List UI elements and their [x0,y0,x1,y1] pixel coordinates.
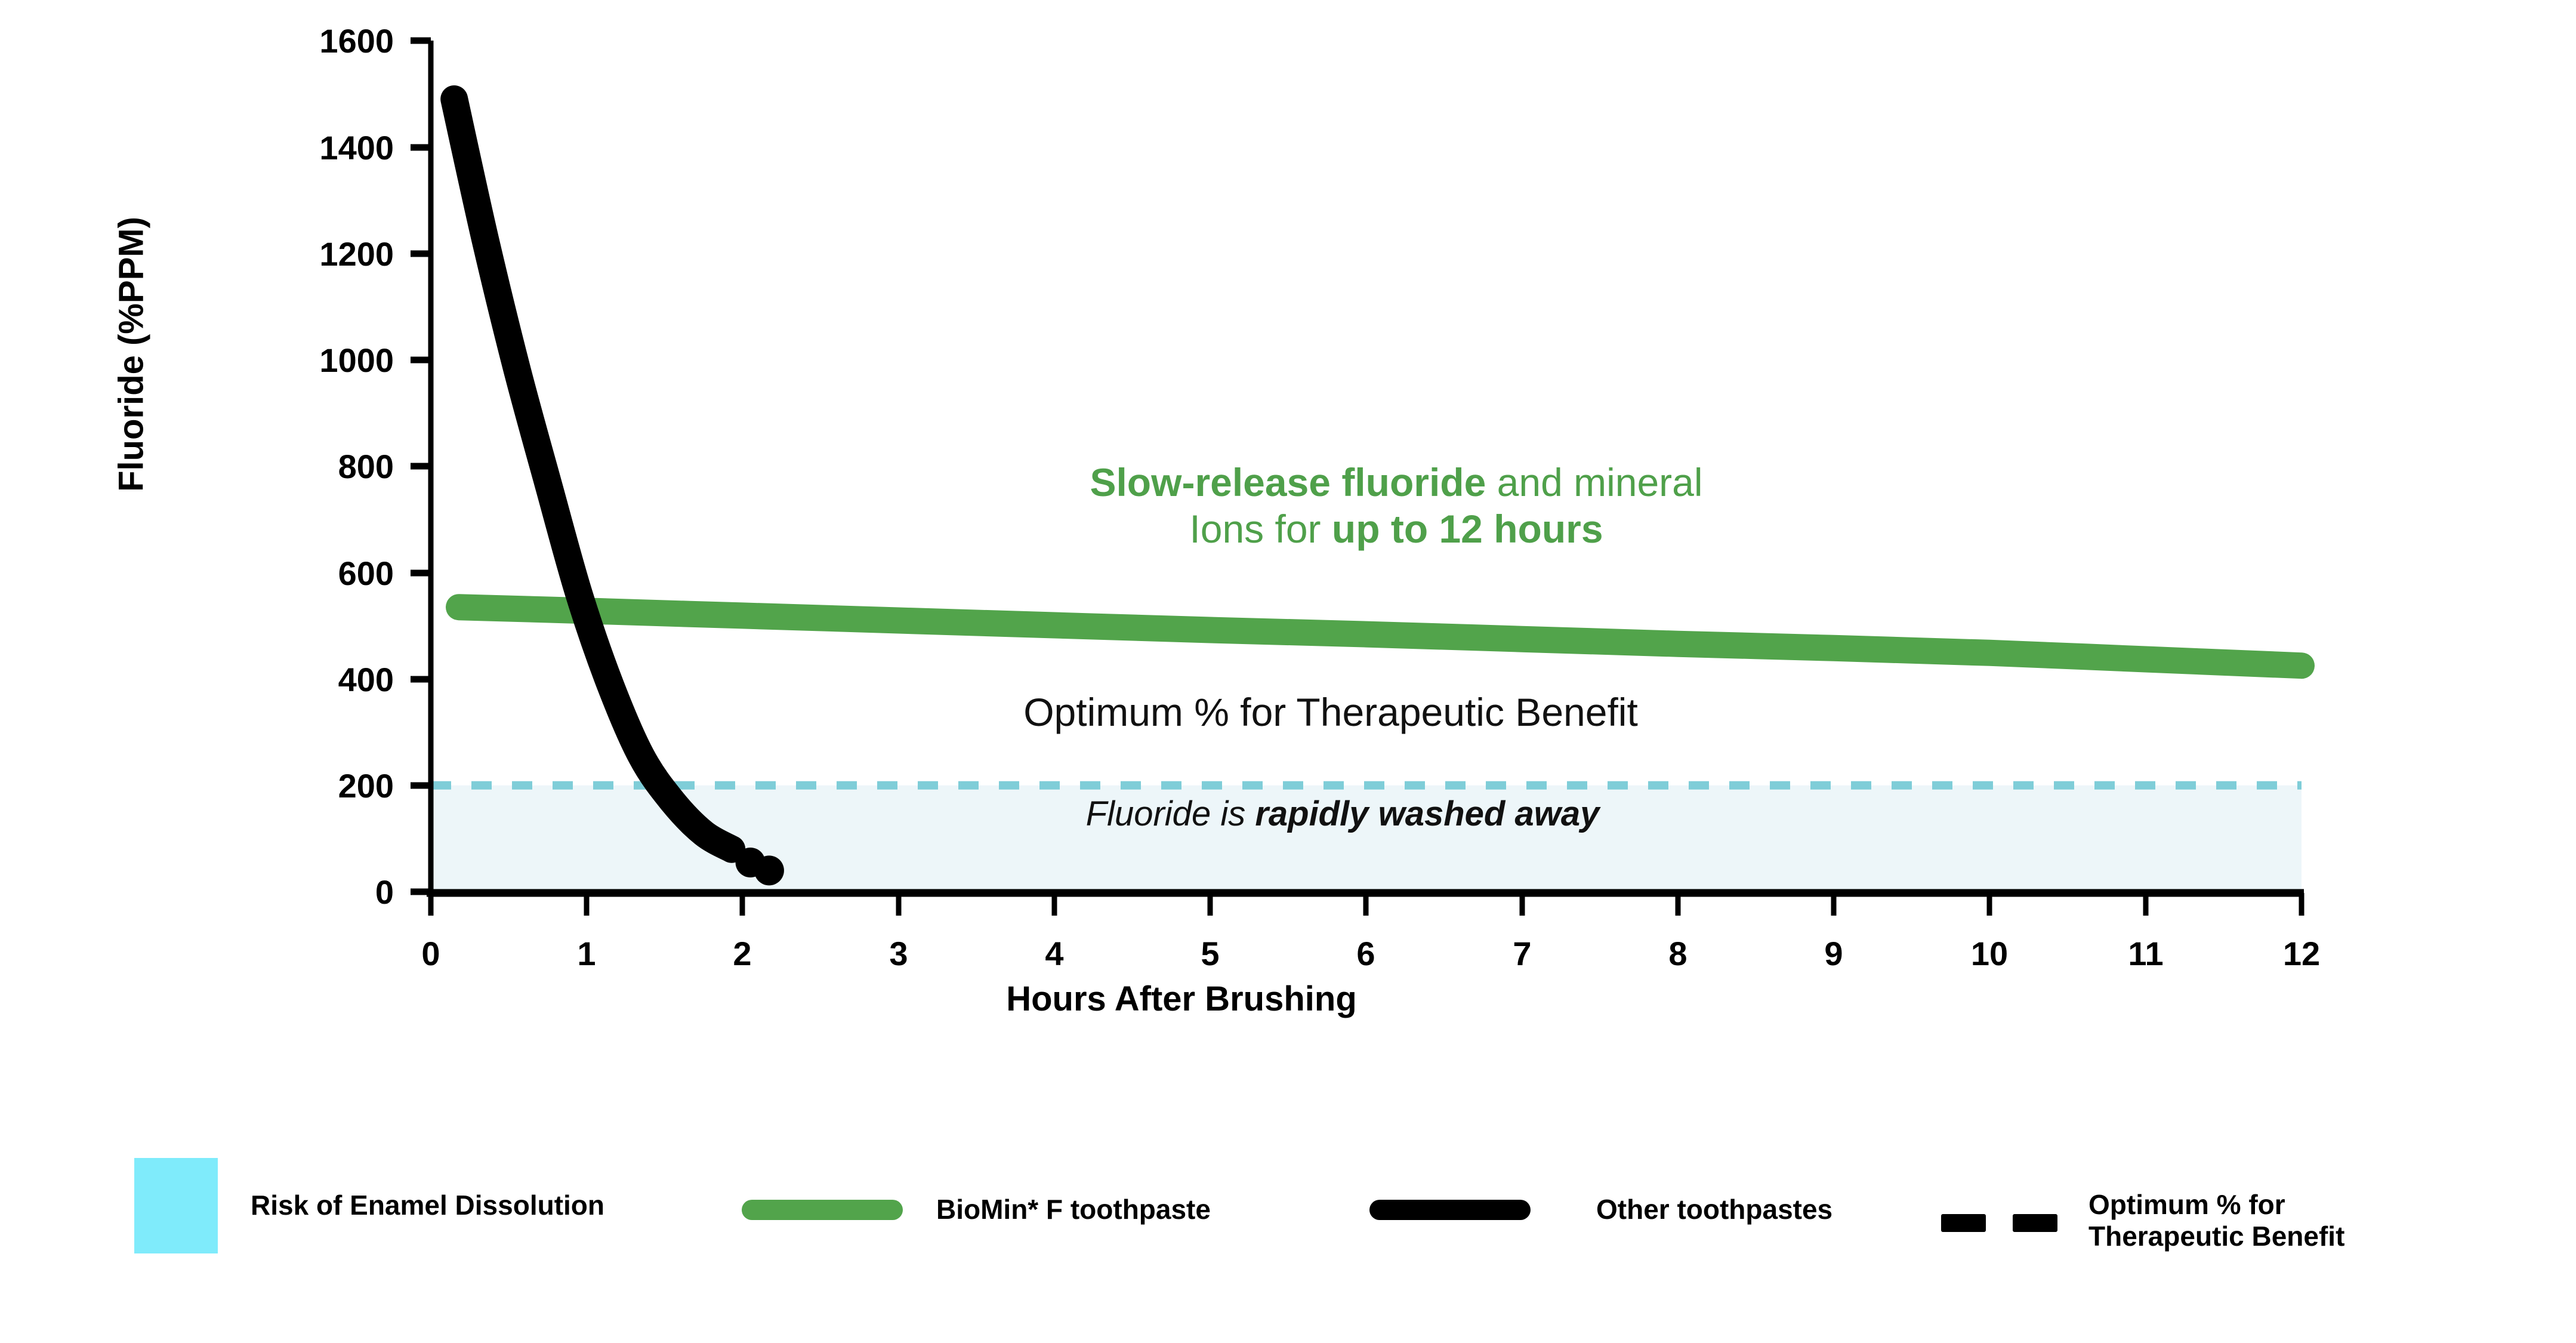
y-tick-label-1600: 1600 [227,24,394,58]
legend-label-other: Other toothpastes [1596,1194,1832,1225]
legend-line-icon-biomin [742,1200,903,1220]
legend-item-risk-of-enamel-dissolution[interactable]: Risk of Enamel Dissolution [134,1158,604,1253]
plot-area: 0 200 400 600 800 1000 1200 1400 1600 0 … [0,0,2576,1033]
legend-item-optimum-therapeutic-benefit[interactable]: Optimum % for Therapeutic Benefit [1941,1194,2423,1253]
x-tick-label-12: 12 [2242,937,2361,971]
annotation-washed-bold: rapidly washed away [1255,794,1599,833]
x-tick-label-6: 6 [1306,937,1426,971]
x-tick-label-3: 3 [839,937,958,971]
legend-dash-icon-2 [2013,1214,2057,1232]
annotation-washed-pre: Fluoride is [1086,794,1255,833]
legend-label-optimum: Optimum % for Therapeutic Benefit [2088,1189,2423,1253]
y-tick-label-200: 200 [227,769,394,803]
legend-item-biomin-f-toothpaste[interactable]: BioMin* F toothpaste [742,1194,1211,1225]
y-tick-label-800: 800 [227,450,394,483]
x-tick-label-9: 9 [1774,937,1893,971]
annotation-washed-away: Fluoride is rapidly washed away [895,794,1790,834]
y-tick-label-600: 600 [227,557,394,590]
annotation-optimum-benefit: Optimum % for Therapeutic Benefit [823,689,1838,736]
legend-item-other-toothpastes[interactable]: Other toothpastes [1369,1194,1832,1225]
y-tick-label-1200: 1200 [227,238,394,271]
x-tick-label-8: 8 [1618,937,1738,971]
x-tick-label-7: 7 [1463,937,1582,971]
series-other-toothpastes-line [454,99,732,849]
legend-dash-icon-1 [1941,1214,1986,1232]
annotation-slow-release-pre2: Ions for [1189,507,1331,551]
y-tick-label-0: 0 [227,876,394,909]
x-axis-title: Hours After Brushing [913,979,1450,1019]
x-tick-label-1: 1 [527,937,646,971]
y-axis-ticks [411,41,431,892]
series-other-trailing-dot-2 [754,855,784,885]
x-tick-label-0: 0 [371,937,490,971]
legend-label-risk: Risk of Enamel Dissolution [251,1190,604,1221]
x-tick-label-11: 11 [2086,937,2205,971]
legend-label-biomin: BioMin* F toothpaste [936,1194,1211,1225]
y-tick-label-1000: 1000 [227,344,394,377]
x-tick-label-5: 5 [1150,937,1270,971]
annotation-slow-release-bold1: Slow-release fluoride [1090,460,1486,504]
annotation-slow-release: Slow-release fluoride and mineral Ions f… [889,460,1904,553]
legend-swatch-icon-risk [134,1158,218,1253]
annotation-slow-release-rest1: and mineral [1486,460,1702,504]
series-biomin-f-line [459,607,2302,666]
chart-page: 0 200 400 600 800 1000 1200 1400 1600 0 … [0,0,2576,1343]
x-tick-label-4: 4 [995,937,1114,971]
y-tick-label-400: 400 [227,663,394,697]
y-tick-label-1400: 1400 [227,131,394,165]
chart-legend: Risk of Enamel Dissolution BioMin* F too… [0,1134,2576,1283]
x-tick-label-2: 2 [683,937,802,971]
legend-dashes-icon-optimum [1941,1214,2057,1232]
legend-line-icon-other [1369,1200,1531,1220]
annotation-slow-release-bold2: up to 12 hours [1332,507,1603,551]
y-axis-title: Fluoride (%PPM) [112,187,152,522]
x-tick-label-10: 10 [1930,937,2049,971]
